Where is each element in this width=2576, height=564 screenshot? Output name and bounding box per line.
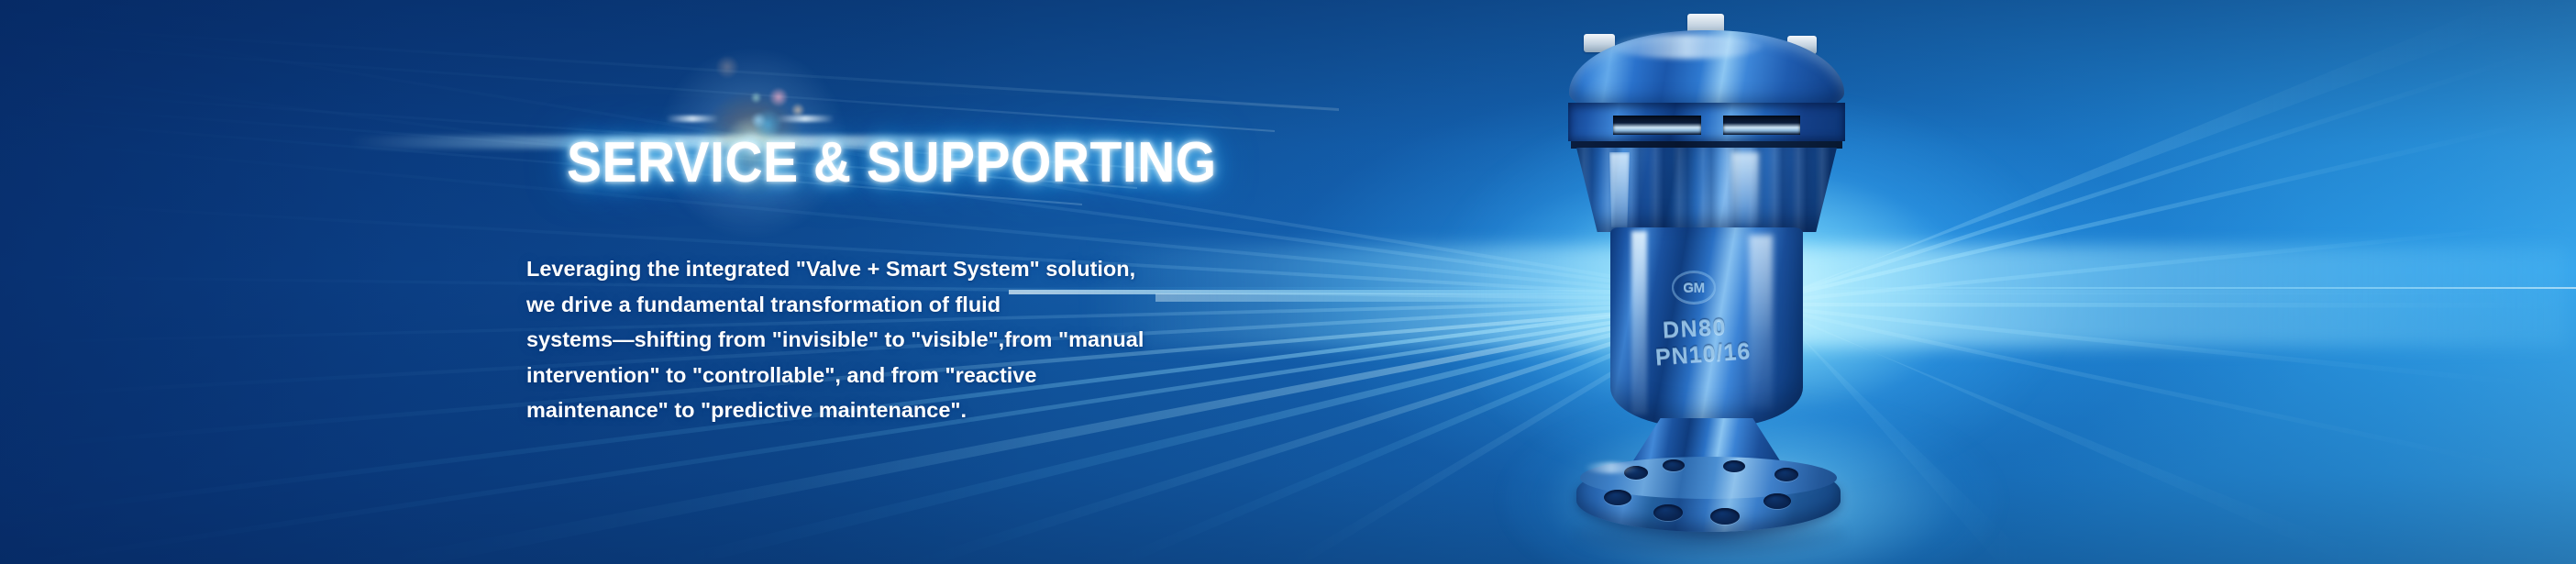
valve-vent-slot-left xyxy=(1613,116,1701,135)
valve-brand-logo-gm: GM xyxy=(1672,271,1716,304)
paragraph-line-3: systems—shifting from "invisible" to "vi… xyxy=(526,322,1443,358)
valve-body-highlight-left xyxy=(1631,231,1647,415)
banner-content: SERVICE & SUPPORTING Leveraging the inte… xyxy=(0,0,2576,564)
valve-body-highlight-right xyxy=(1749,235,1773,409)
flange-bolt-hole xyxy=(1774,468,1798,481)
product-image-air-release-valve: GM DN80 PN10/16 xyxy=(1543,4,1874,554)
flange-bolt-hole xyxy=(1604,490,1631,505)
flange-bolt-hole xyxy=(1710,508,1740,525)
paragraph-line-1: Leveraging the integrated "Valve + Smart… xyxy=(526,251,1443,287)
paragraph-line-4: intervention" to "controllable", and fro… xyxy=(526,358,1443,393)
flange-bolt-hole xyxy=(1723,460,1745,472)
flange-bolt-hole xyxy=(1763,493,1791,509)
banner-headline: SERVICE & SUPPORTING xyxy=(567,135,1217,192)
paragraph-line-2: we drive a fundamental transformation of… xyxy=(526,287,1443,323)
valve-vent-slot-right xyxy=(1723,116,1800,135)
flange-bolt-hole xyxy=(1663,459,1685,471)
valve-collar-seam xyxy=(1571,141,1842,149)
valve-shell-highlight-right xyxy=(1731,152,1759,226)
paragraph-line-5: maintenance" to "predictive maintenance"… xyxy=(526,393,1443,428)
valve-dome-highlight xyxy=(1611,35,1763,59)
valve-shell-highlight-left xyxy=(1609,152,1630,227)
valve-vent-collar xyxy=(1568,103,1845,141)
banner-paragraph: Leveraging the integrated "Valve + Smart… xyxy=(526,251,1443,428)
flange-rim-highlight xyxy=(1584,462,1639,473)
promo-banner: SERVICE & SUPPORTING Leveraging the inte… xyxy=(0,0,2576,564)
flange-bolt-hole xyxy=(1653,504,1683,521)
